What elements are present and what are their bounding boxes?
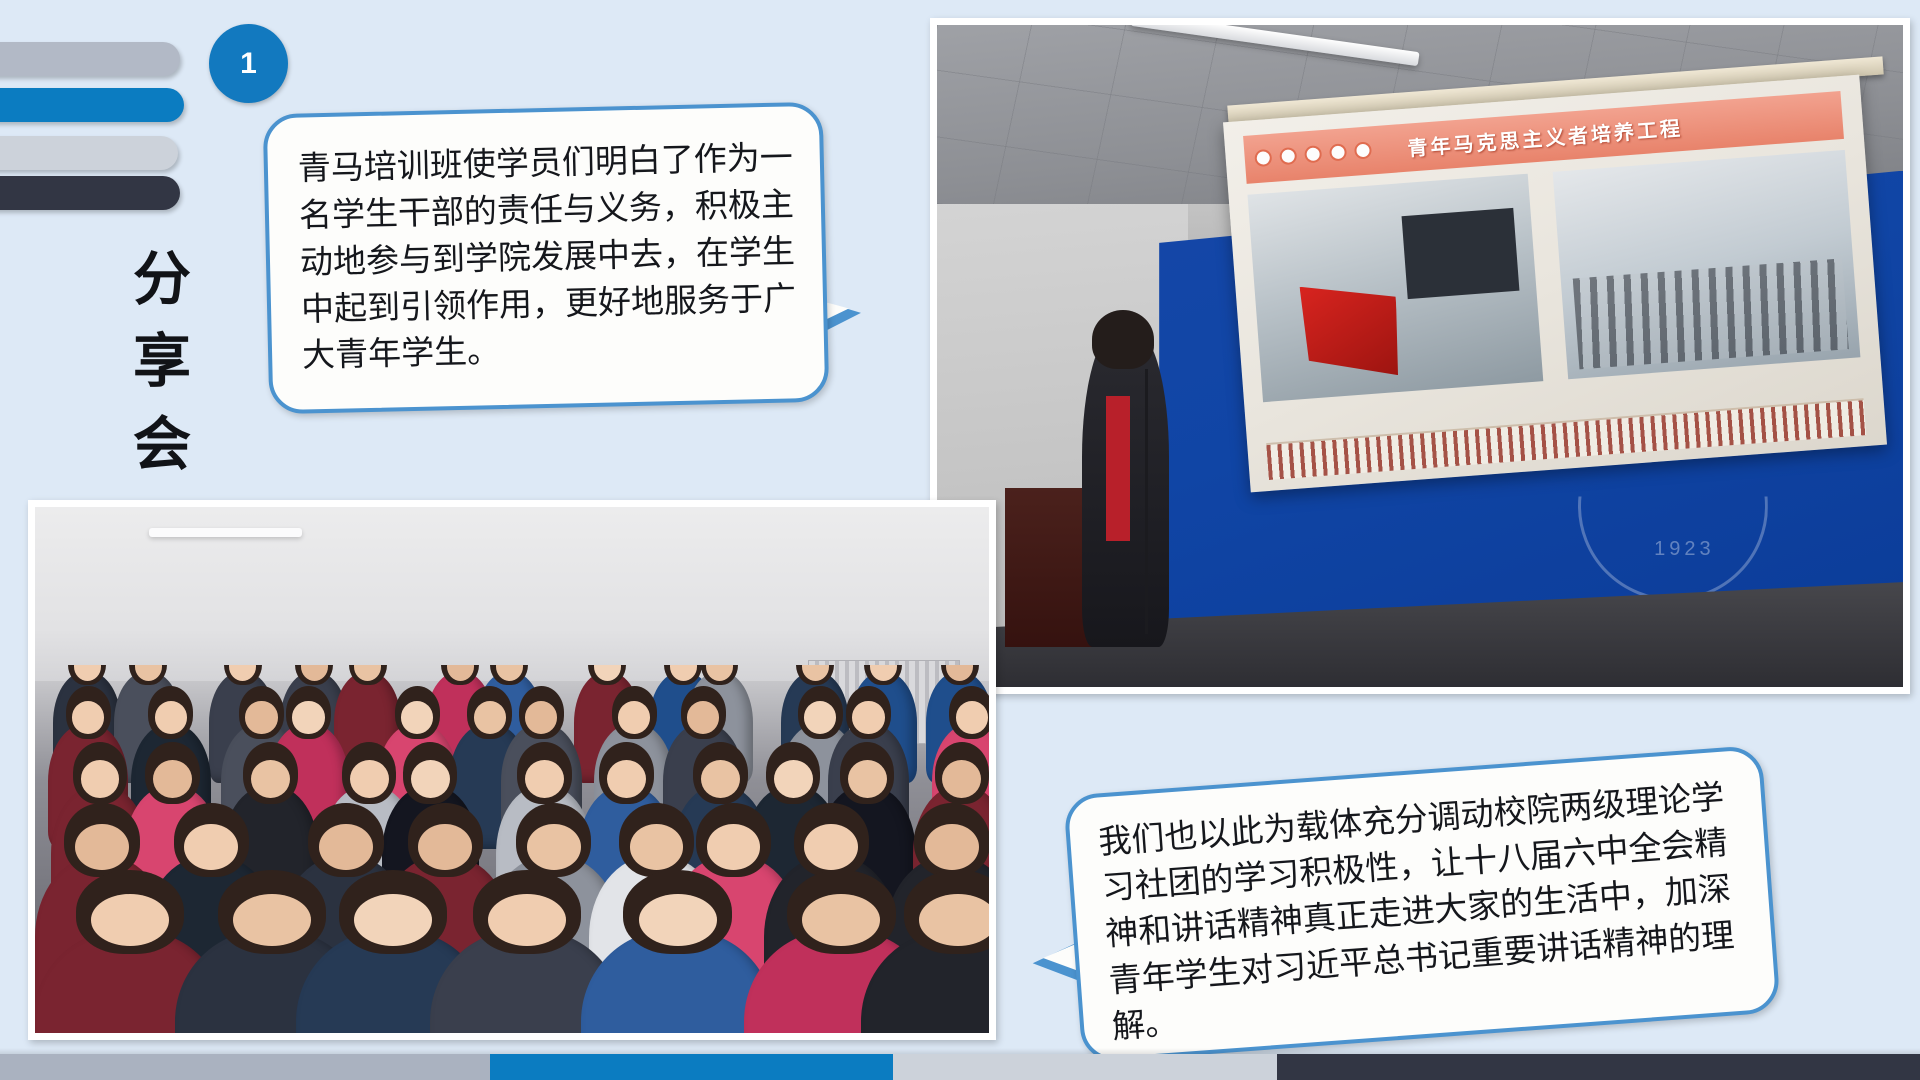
microphone-stand xyxy=(1145,369,1148,634)
audience-person-face xyxy=(411,760,450,798)
page-title: 分 享 会 xyxy=(118,238,208,485)
audience-person-face xyxy=(155,701,187,734)
screen-photo-left xyxy=(1248,174,1543,402)
audience-person-face xyxy=(233,894,311,946)
photo-lecture: 1923 青年马克思主义者培养工程 xyxy=(937,25,1903,687)
footer-segment-blue xyxy=(490,1054,893,1080)
decor-bar-light-grey xyxy=(0,136,178,170)
banner-dot-icon xyxy=(1354,142,1372,160)
audience-person-face xyxy=(701,760,740,798)
projector-screen: 青年马克思主义者培养工程 xyxy=(1223,74,1887,491)
audience-person-face xyxy=(81,760,120,798)
slide-number-label: 1 xyxy=(240,47,257,81)
audience-person-face xyxy=(687,701,719,734)
audience-person-face xyxy=(245,701,277,734)
audience-person-face xyxy=(525,760,564,798)
audience-person-face xyxy=(292,701,324,734)
audience-person-face xyxy=(607,760,646,798)
audience-person-face xyxy=(525,701,557,734)
footer-segment-grey xyxy=(0,1054,490,1080)
banner-dot-icon xyxy=(1305,145,1323,163)
title-char-3: 会 xyxy=(118,403,208,485)
audience-person-face xyxy=(639,894,717,946)
speech-bubble-1: 青马培训班使学员们明白了作为一名学生干部的责任与义务，积极主动地参与到学院发展中… xyxy=(263,102,830,415)
audience-person-face xyxy=(925,824,979,870)
screen-banner-text: 青年马克思主义者培养工程 xyxy=(1407,112,1684,162)
banner-dot-icon xyxy=(1330,143,1348,161)
screen-photo-left-dark-area xyxy=(1402,208,1520,299)
speaker-scarf xyxy=(1106,396,1130,542)
banner-dot-icon xyxy=(1280,147,1298,165)
audience-person-face xyxy=(618,701,650,734)
photo-lecture-frame: 1923 青年马克思主义者培养工程 xyxy=(930,18,1910,694)
audience-person-face xyxy=(75,824,129,870)
title-char-1: 分 xyxy=(118,238,208,320)
audience-person-face xyxy=(401,701,433,734)
audience-person-face xyxy=(153,760,192,798)
audience-person-face xyxy=(804,701,836,734)
wall-emblem-year: 1923 xyxy=(1654,538,1715,561)
audience-person-face xyxy=(942,760,981,798)
banner-dot-icon xyxy=(1255,149,1273,167)
audience-person-face xyxy=(354,894,432,946)
audience-person-face xyxy=(848,760,887,798)
footer-segment-dark xyxy=(1277,1054,1920,1080)
speech-bubble-1-text: 青马培训班使学员们明白了作为一名学生干部的责任与义务，积极主动地参与到学院发展中… xyxy=(267,106,825,381)
audience-person-face xyxy=(319,824,373,870)
slide-number-badge: 1 xyxy=(209,24,288,103)
audience-person-face xyxy=(774,760,813,798)
audience-person-face xyxy=(72,701,104,734)
speech-bubble-2: 我们也以此为载体充分调动校院两级理论学习社团的学习积极性，让十八届六中全会精神和… xyxy=(1063,745,1781,1064)
audience-person-face xyxy=(527,824,581,870)
footer-bar xyxy=(0,1054,1920,1080)
screen-photo-right-audience xyxy=(1573,258,1849,369)
decor-bar-dark xyxy=(0,176,180,210)
photo-audience xyxy=(35,507,989,1033)
screen-photo-left-flag xyxy=(1300,279,1402,381)
speaker-head xyxy=(1092,310,1155,370)
audience-person-face xyxy=(350,760,389,798)
audience-person-face xyxy=(852,701,884,734)
speech-bubble-2-text: 我们也以此为载体充分调动校院两级理论学习社团的学习积极性，让十八届六中全会精神和… xyxy=(1067,749,1776,1052)
audience-crowd xyxy=(35,665,989,1033)
screen-photo-right xyxy=(1553,150,1861,379)
decor-bar-grey-top xyxy=(0,42,180,76)
footer-segment-light-grey xyxy=(893,1054,1277,1080)
presentation-slide: 1 分 享 会 青马培训班使学员们明白了作为一名学生干部的责任与义务，积极主动地… xyxy=(0,0,1920,1080)
photo-audience-frame xyxy=(28,500,996,1040)
classroom-ceiling-light xyxy=(149,528,302,537)
audience-person-face xyxy=(91,894,169,946)
audience-person-face xyxy=(251,760,290,798)
audience-person-face xyxy=(956,701,988,734)
audience-person-face xyxy=(919,894,989,946)
title-char-2: 享 xyxy=(118,320,208,402)
decor-bar-blue xyxy=(0,88,184,122)
audience-person-face xyxy=(488,894,566,946)
audience-person-face xyxy=(474,701,506,734)
audience-person-face xyxy=(802,894,880,946)
